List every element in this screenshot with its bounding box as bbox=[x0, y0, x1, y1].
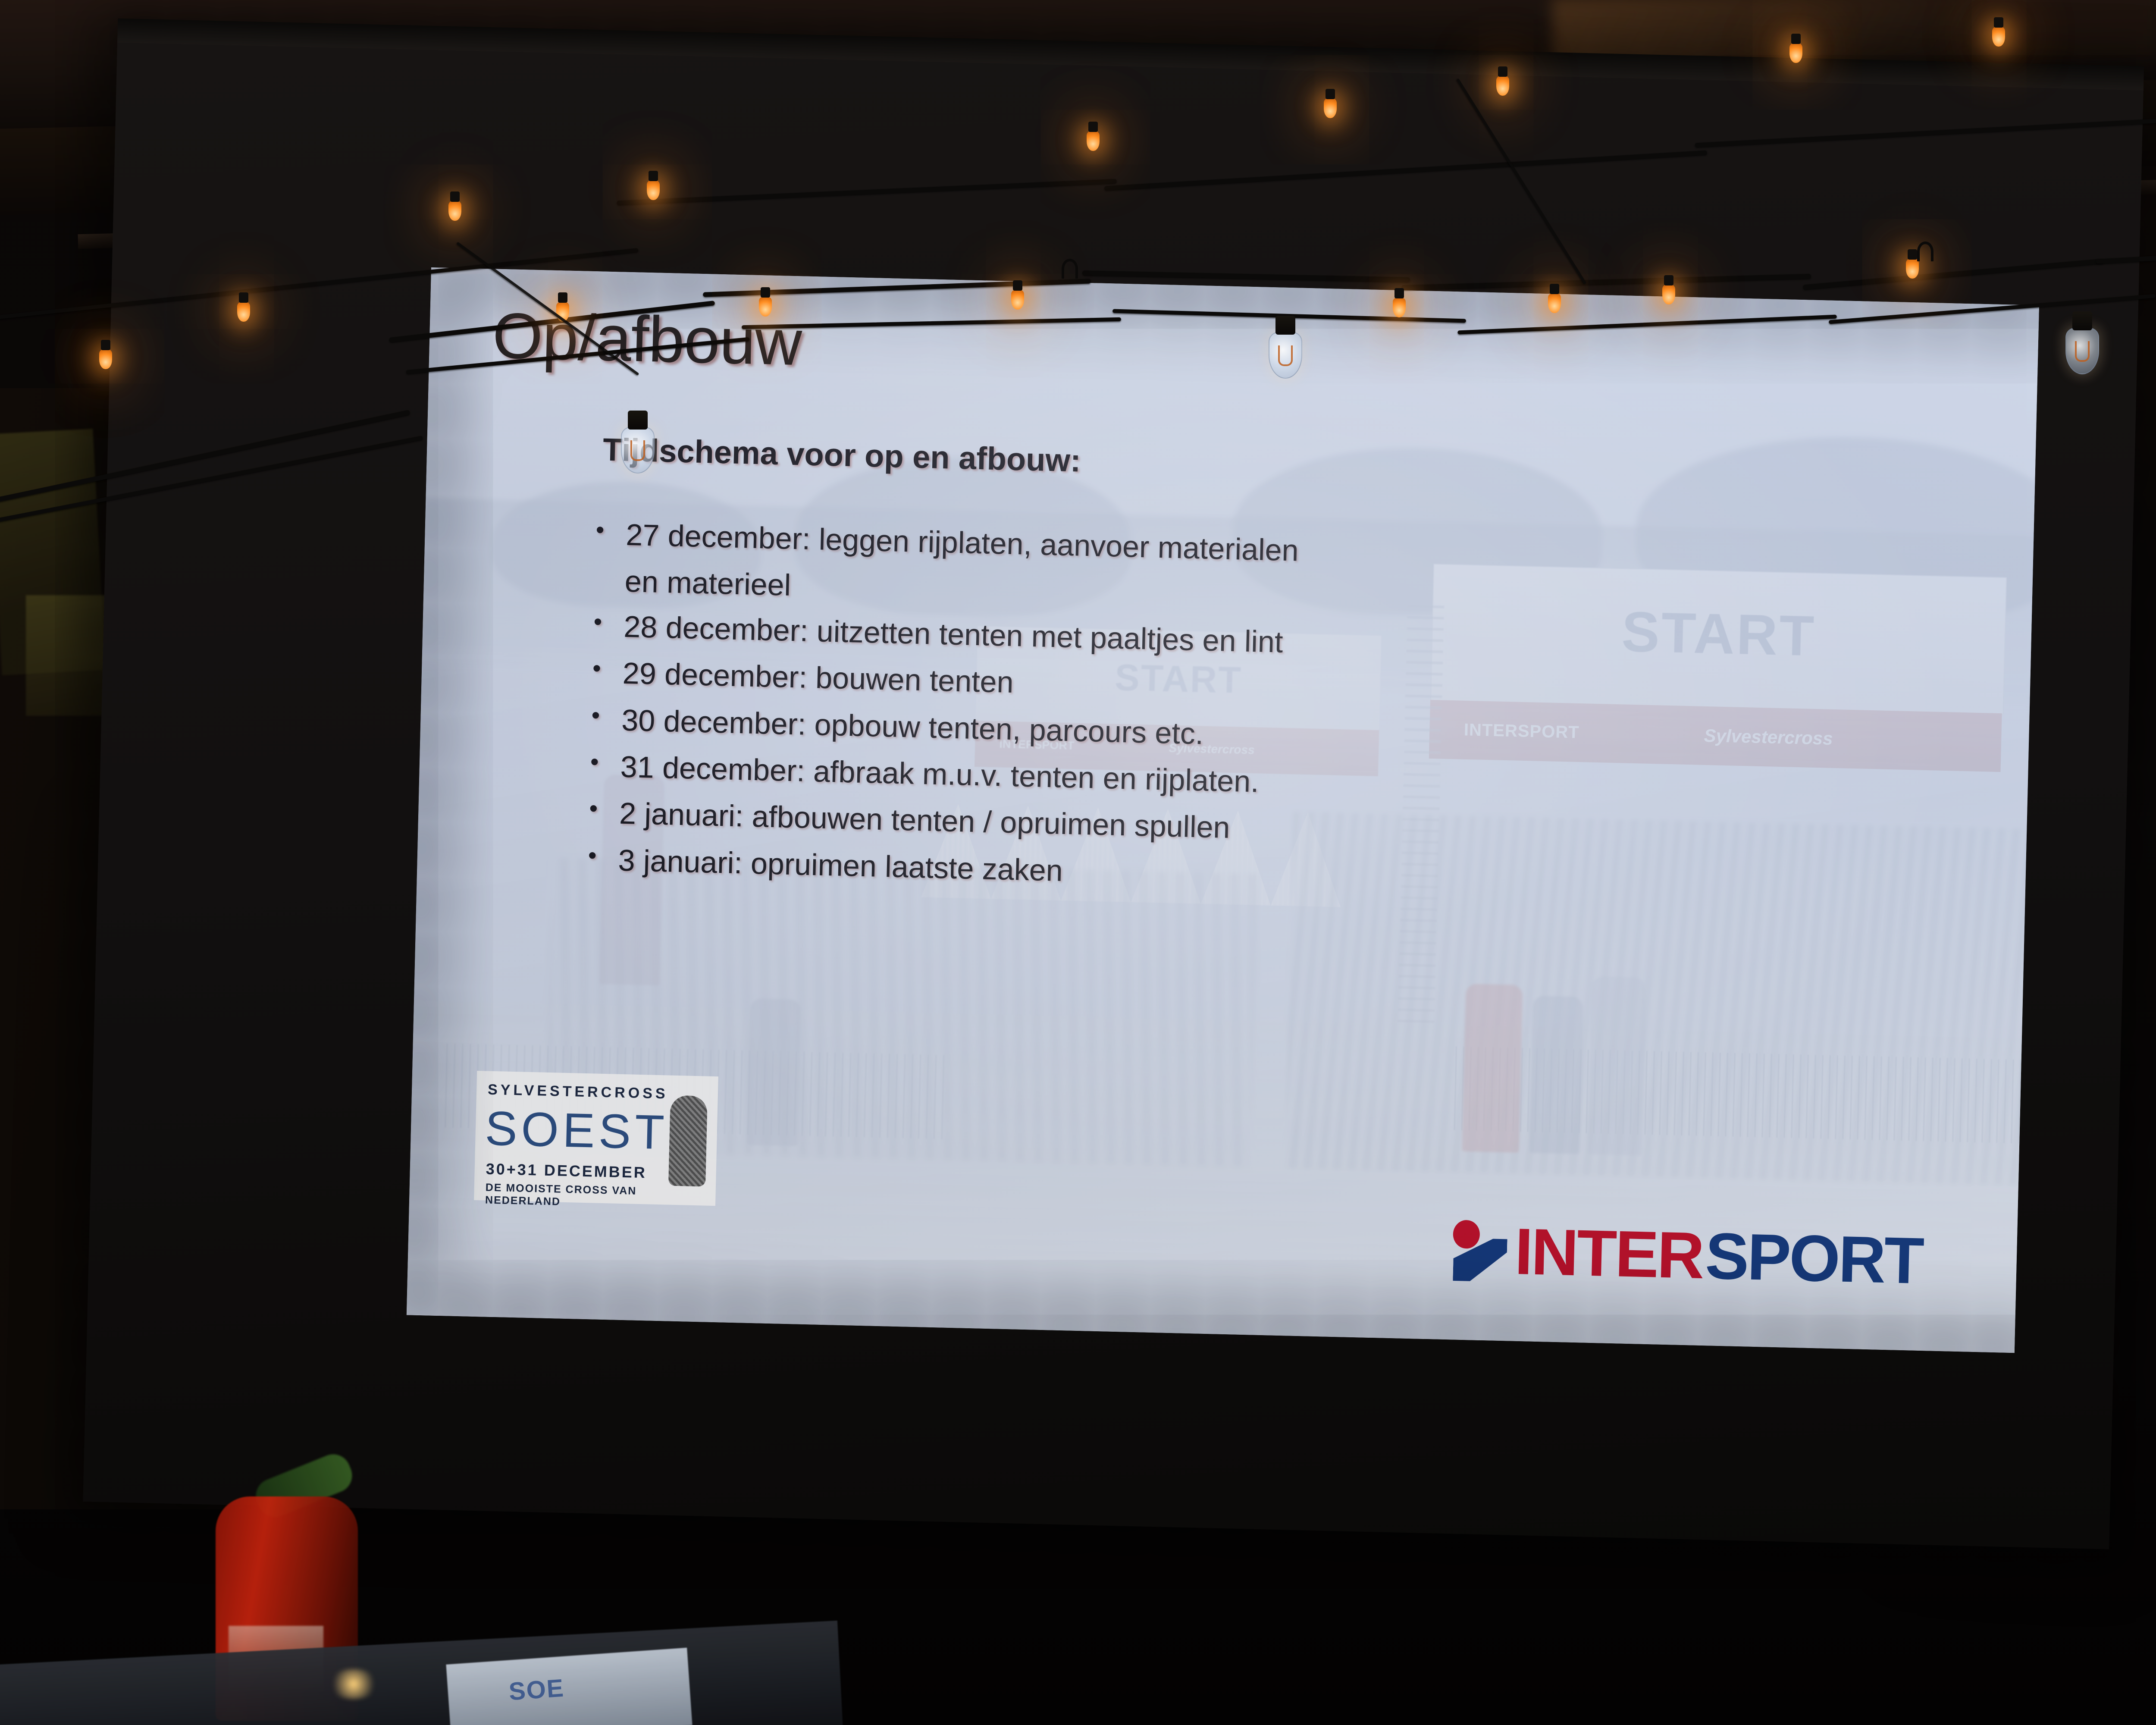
string-light-bulb bbox=[1011, 290, 1024, 310]
candle-flame bbox=[328, 1669, 379, 1699]
intersport-wordmark-inter: INTER bbox=[1514, 1214, 1704, 1294]
string-light-bulb bbox=[1906, 259, 1919, 279]
bulb-cap bbox=[2072, 311, 2092, 330]
soest-logo-line-1: SYLVESTERCROSS bbox=[488, 1082, 668, 1103]
bulb-cap bbox=[628, 411, 648, 430]
string-light-bulb bbox=[1393, 298, 1406, 317]
intersport-wordmark-sport: SPORT bbox=[1705, 1218, 1924, 1299]
string-light-bulb bbox=[1548, 293, 1561, 313]
foreground-paper-text: SOE bbox=[508, 1674, 565, 1706]
bulb-filament bbox=[630, 440, 645, 461]
string-light-bulb bbox=[1789, 43, 1802, 63]
slide-bullet-list: 27 december: leggen rijplaten, aanvoer m… bbox=[584, 517, 1843, 919]
large-clear-bulb bbox=[2065, 328, 2099, 374]
large-clear-bulb bbox=[621, 427, 655, 474]
intersport-logo: INTER SPORT bbox=[1451, 1212, 1923, 1299]
bulb-cap bbox=[1275, 316, 1295, 335]
wall-poster-2 bbox=[26, 595, 108, 716]
soest-logo-line-3: 30+31 DECEMBER bbox=[486, 1160, 647, 1182]
sylvestercross-soest-logo: SYLVESTERCROSS SOEST 30+31 DECEMBER DE M… bbox=[474, 1071, 718, 1206]
string-light-bulb bbox=[1992, 27, 2005, 47]
intersport-dot-icon bbox=[1453, 1220, 1480, 1248]
soest-logo-line-2: SOEST bbox=[484, 1101, 669, 1160]
string-light-bulb bbox=[448, 201, 461, 221]
string-light-bulb bbox=[1496, 76, 1509, 96]
intersport-mark-icon bbox=[1451, 1218, 1508, 1284]
projector-screen: START INTERSPORT Sylvestercross START IN… bbox=[404, 267, 2082, 1453]
large-clear-bulb bbox=[1269, 332, 1302, 379]
bulb-filament bbox=[1278, 345, 1293, 366]
string-light-bulb bbox=[1662, 285, 1675, 304]
string-light-bulb bbox=[1087, 131, 1100, 151]
bulb-filament bbox=[2075, 341, 2090, 362]
string-light-bulb bbox=[237, 302, 250, 322]
foreground-table bbox=[0, 1621, 843, 1725]
cable-hook bbox=[1917, 241, 1934, 261]
string-light-bulb bbox=[1324, 98, 1337, 118]
running-shoe-icon bbox=[668, 1095, 708, 1187]
string-light-bulb bbox=[99, 349, 112, 369]
cable-hook bbox=[1062, 259, 1078, 279]
string-light-bulb bbox=[759, 297, 772, 317]
scene-root: START INTERSPORT Sylvestercross START IN… bbox=[0, 0, 2156, 1725]
string-light-bulb bbox=[647, 180, 660, 200]
